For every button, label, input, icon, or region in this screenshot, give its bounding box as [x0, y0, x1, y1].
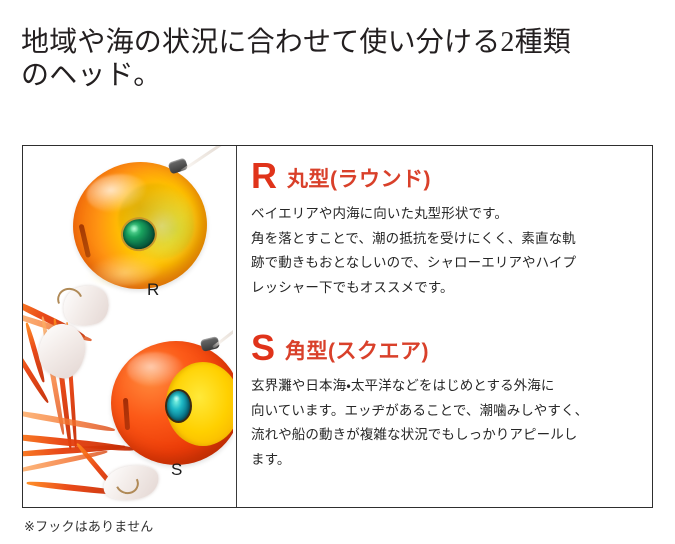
section-title-square: 角型(スクエア): [285, 339, 429, 365]
square-head: [111, 341, 233, 465]
section-body-round: ベイエリアや内海に向いた丸型形状です。 角を落とすことで、潮の抵抗を受けにくく、…: [251, 202, 643, 300]
panel-divider: [236, 146, 237, 507]
footnote: ※フックはありません: [24, 516, 154, 535]
section-square: S 角型(スクエア) 玄界灘や日本海・太平洋などをはじめとする外海に 向いていま…: [251, 331, 643, 472]
content-panel: R S R 丸型(ラウンド) ベイエリアや内海に向いた丸型形状です。 角を落とす…: [22, 145, 653, 508]
leader-line: [180, 146, 233, 173]
line-slot: [123, 398, 130, 430]
line-slot: [79, 224, 92, 258]
photo-label-square: S: [171, 460, 183, 480]
photo-label-round: R: [147, 280, 160, 300]
product-photo: R S: [23, 146, 233, 507]
leader-line: [212, 322, 233, 349]
section-heading-round: R 丸型(ラウンド): [251, 159, 643, 193]
section-round: R 丸型(ラウンド) ベイエリアや内海に向いた丸型形状です。 角を落とすことで、…: [251, 159, 643, 300]
round-head: [67, 155, 214, 295]
section-body-square: 玄界灘や日本海・太平洋などをはじめとする外海に 向いています。エッヂがあることで…: [251, 374, 643, 472]
lure-eye: [165, 389, 192, 423]
section-letter-square: S: [251, 331, 275, 365]
page-headline: 地域や海の状況に合わせて使い分ける2種類 のヘッド。: [21, 26, 661, 92]
section-heading-square: S 角型(スクエア): [251, 331, 643, 365]
section-title-round: 丸型(ラウンド): [287, 167, 431, 193]
section-letter-round: R: [251, 159, 277, 193]
